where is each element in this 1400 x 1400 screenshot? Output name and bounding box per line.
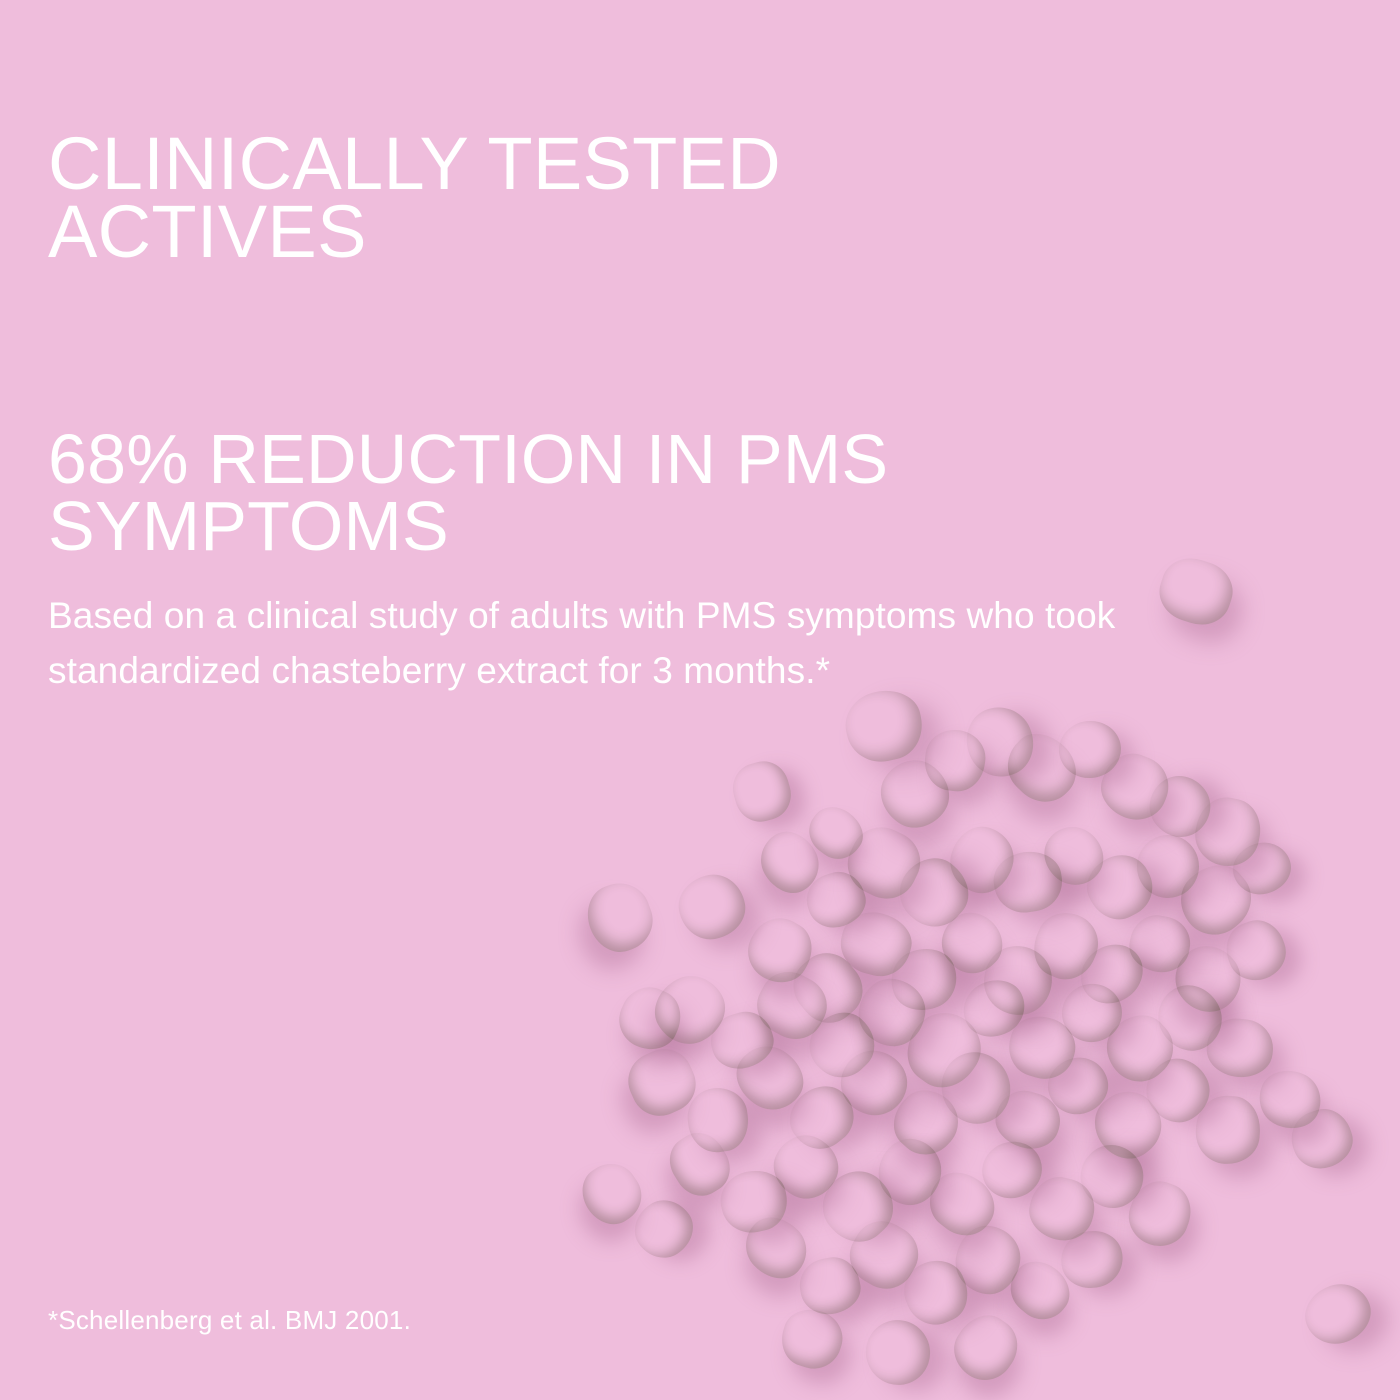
chasteberry-seed xyxy=(1152,550,1240,633)
body-copy: Based on a clinical study of adults with… xyxy=(48,589,1118,699)
chasteberry-seed xyxy=(774,1302,849,1376)
chasteberry-seed xyxy=(1297,1275,1379,1352)
chasteberry-seed xyxy=(674,870,750,945)
chasteberry-seed xyxy=(579,875,661,960)
chasteberry-seed xyxy=(1194,1094,1263,1166)
chasteberry-seed xyxy=(727,755,797,827)
page-title: Clinically Tested Actives xyxy=(48,130,1048,268)
footnote-citation: *Schellenberg et al. BMJ 2001. xyxy=(48,1305,411,1336)
stat-headline: 68% Reduction in PMS Symptoms xyxy=(48,426,1128,560)
promo-graphic: Clinically Tested Actives 68% Reduction … xyxy=(0,0,1400,1400)
